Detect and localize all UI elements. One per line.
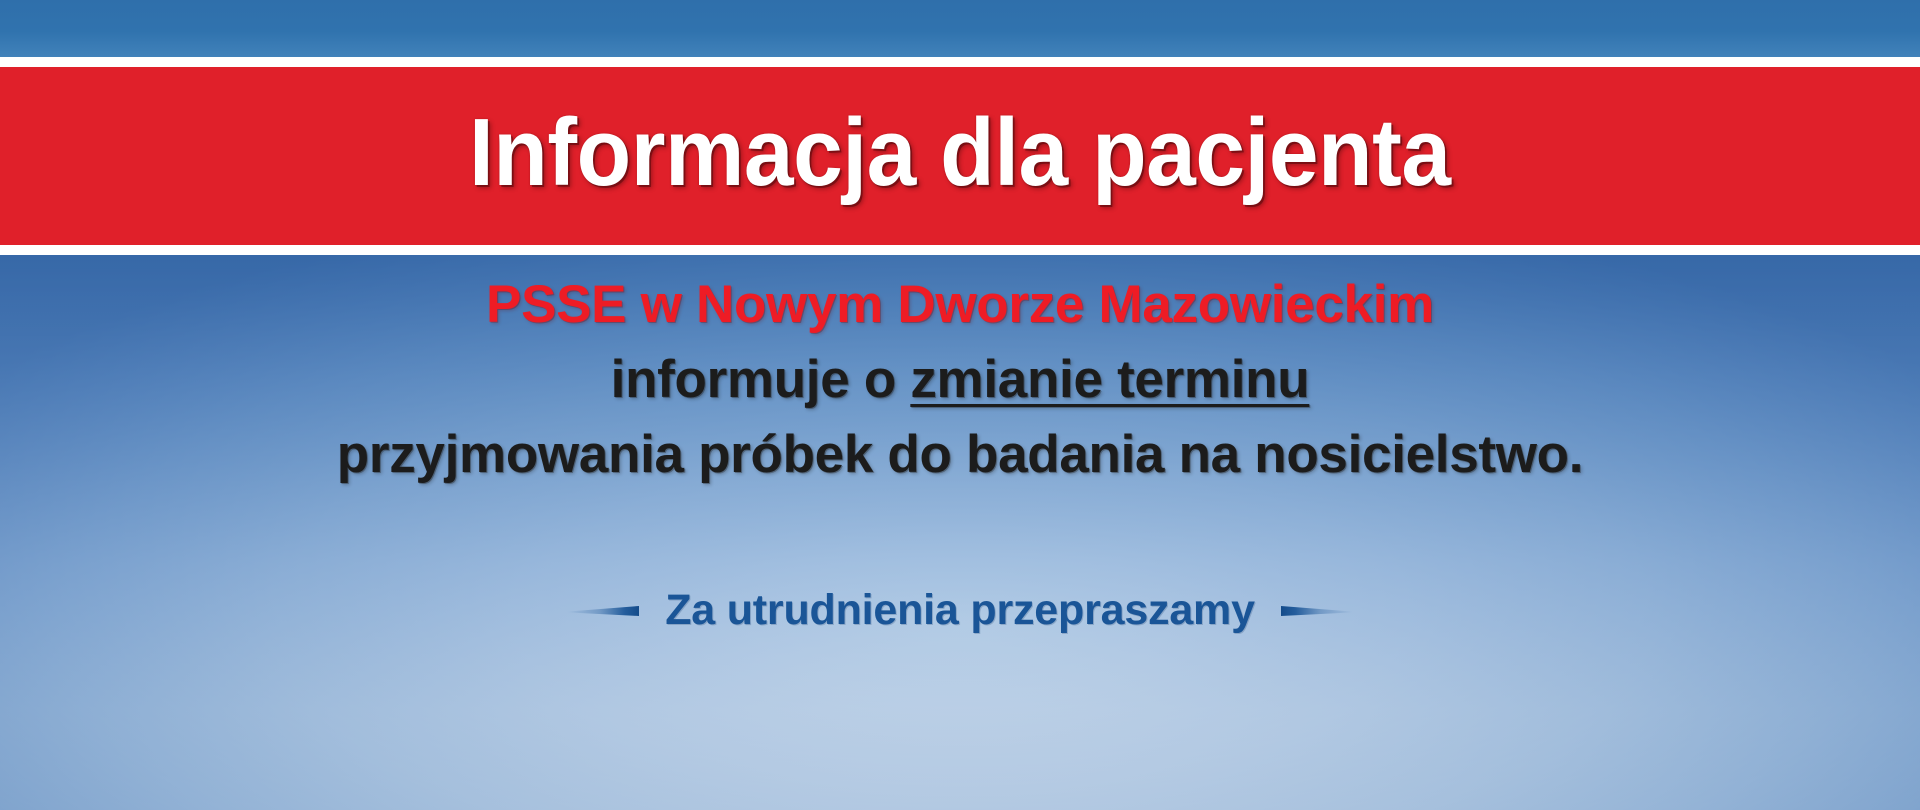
notice-prefix: informuje o: [611, 350, 911, 409]
separator-white-lower: [0, 245, 1920, 255]
page-title: Informacja dla pacjenta: [469, 105, 1451, 207]
title-red-band: Informacja dla pacjenta: [0, 67, 1920, 245]
organization-name: PSSE w Nowym Dworze Mazowieckim: [0, 278, 1920, 331]
tapered-dash-right-icon: [1281, 599, 1353, 623]
notice-line: informuje o zmianie terminu: [0, 353, 1920, 406]
separator-white-upper: [0, 57, 1920, 67]
poster-body: PSSE w Nowym Dworze Mazowieckim informuj…: [0, 255, 1920, 810]
notice-emphasis: zmianie terminu: [910, 350, 1309, 409]
apology-line: Za utrudnienia przepraszamy: [0, 589, 1920, 632]
notice-detail: przyjmowania próbek do badania na nosici…: [0, 428, 1920, 481]
patient-information-poster: Informacja dla pacjenta PSSE w Nowym Dwo…: [0, 0, 1920, 810]
tapered-dash-left-icon: [567, 599, 639, 623]
apology-text: Za utrudnienia przepraszamy: [665, 589, 1255, 632]
top-blue-band: [0, 0, 1920, 57]
